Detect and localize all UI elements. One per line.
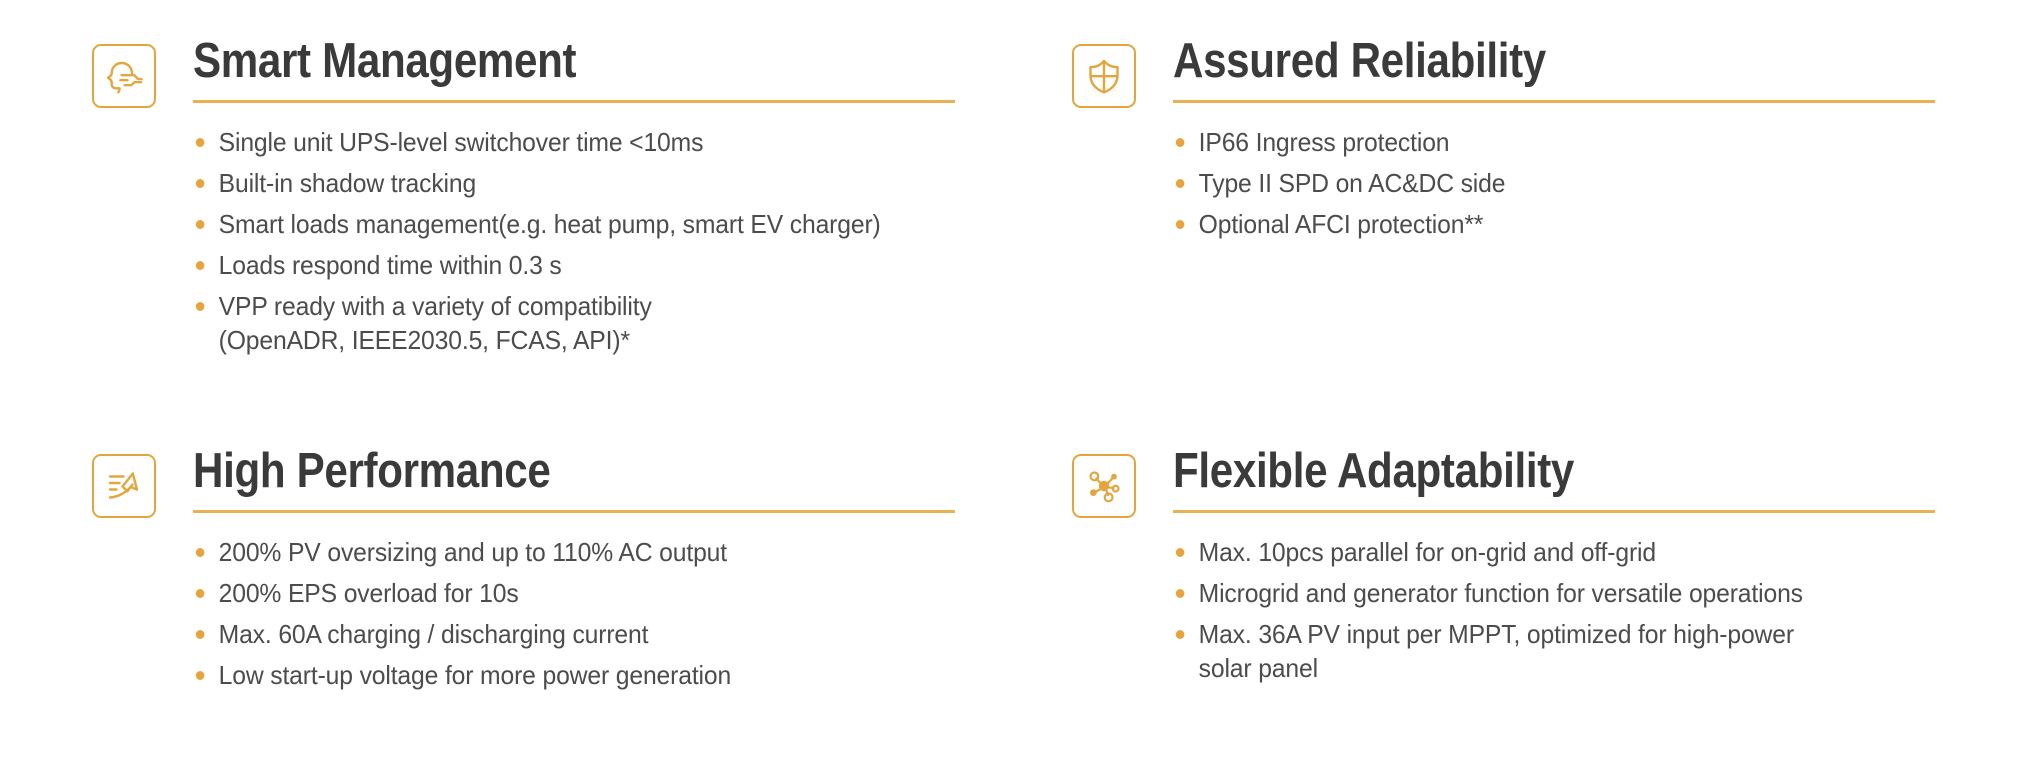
feature-block-flexible-adaptability: Flexible Adaptability Max. 10pcs paralle… <box>1072 446 1952 692</box>
list-item-text: Microgrid and generator function for ver… <box>1199 578 1803 608</box>
feature-block-smart-management: Smart Management Single unit UPS-level s… <box>92 36 972 364</box>
list-item-text: Smart loads management(e.g. heat pump, s… <box>219 209 881 239</box>
list-item: Microgrid and generator function for ver… <box>1173 576 1913 610</box>
list-item-text: Loads respond time within 0.3 s <box>219 250 562 280</box>
shield-icon <box>1072 44 1136 108</box>
list-item-text: Low start-up voltage for more power gene… <box>219 660 731 690</box>
list-item: Low start-up voltage for more power gene… <box>193 658 933 692</box>
bullet-list-high-performance: 200% PV oversizing and up to 110% AC out… <box>193 535 972 692</box>
network-nodes-icon <box>1072 454 1136 518</box>
title-divider <box>1173 510 1935 513</box>
bullet-list-smart-management: Single unit UPS-level switchover time <1… <box>193 125 972 357</box>
feature-block-high-performance: High Performance 200% PV oversizing and … <box>92 446 972 699</box>
list-item: VPP ready with a variety of compatibilit… <box>193 289 933 357</box>
list-item-continuation: solar panel <box>1199 651 1913 685</box>
bullet-list-flexible-adaptability: Max. 10pcs parallel for on-grid and off-… <box>1173 535 1952 685</box>
list-item-text: Max. 36A PV input per MPPT, optimized fo… <box>1199 619 1794 649</box>
list-item: Loads respond time within 0.3 s <box>193 248 933 282</box>
bullet-list-assured-reliability: IP66 Ingress protection Type II SPD on A… <box>1173 125 1952 241</box>
page-title-assured-reliability: Assured Reliability <box>1173 36 1843 88</box>
list-item: Optional AFCI protection** <box>1173 207 1913 241</box>
list-item-continuation: (OpenADR, IEEE2030.5, FCAS, API)* <box>219 323 933 357</box>
list-item-text: Single unit UPS-level switchover time <1… <box>219 127 704 157</box>
list-item: Max. 36A PV input per MPPT, optimized fo… <box>1173 617 1913 685</box>
list-item: Single unit UPS-level switchover time <1… <box>193 125 933 159</box>
block-body: Assured Reliability IP66 Ingress protect… <box>1173 36 1952 248</box>
page-title-flexible-adaptability: Flexible Adaptability <box>1173 446 1843 498</box>
list-item-text: Max. 60A charging / discharging current <box>219 619 649 649</box>
title-divider <box>1173 100 1935 103</box>
list-item-text: VPP ready with a variety of compatibilit… <box>219 291 652 321</box>
list-item-text: 200% PV oversizing and up to 110% AC out… <box>219 537 727 567</box>
list-item: Built-in shadow tracking <box>193 166 933 200</box>
title-divider <box>193 100 955 103</box>
smart-head-ai-icon <box>92 44 156 108</box>
list-item-text: 200% EPS overload for 10s <box>219 578 519 608</box>
list-item: 200% PV oversizing and up to 110% AC out… <box>193 535 933 569</box>
title-divider <box>193 510 955 513</box>
list-item: Max. 60A charging / discharging current <box>193 617 933 651</box>
list-item-text: Type II SPD on AC&DC side <box>1199 168 1506 198</box>
list-item: Max. 10pcs parallel for on-grid and off-… <box>1173 535 1913 569</box>
block-body: Smart Management Single unit UPS-level s… <box>193 36 972 364</box>
list-item-text: Max. 10pcs parallel for on-grid and off-… <box>1199 537 1656 567</box>
list-item: Type II SPD on AC&DC side <box>1173 166 1913 200</box>
rising-arrow-icon <box>92 454 156 518</box>
block-body: Flexible Adaptability Max. 10pcs paralle… <box>1173 446 1952 692</box>
page-title-smart-management: Smart Management <box>193 36 863 88</box>
feature-highlights-page: Smart Management Single unit UPS-level s… <box>0 0 2040 774</box>
list-item-text: IP66 Ingress protection <box>1199 127 1450 157</box>
feature-block-assured-reliability: Assured Reliability IP66 Ingress protect… <box>1072 36 1952 248</box>
list-item: 200% EPS overload for 10s <box>193 576 933 610</box>
list-item-text: Built-in shadow tracking <box>219 168 476 198</box>
list-item-text: Optional AFCI protection** <box>1199 209 1484 239</box>
block-body: High Performance 200% PV oversizing and … <box>193 446 972 699</box>
list-item: IP66 Ingress protection <box>1173 125 1913 159</box>
list-item: Smart loads management(e.g. heat pump, s… <box>193 207 933 241</box>
page-title-high-performance: High Performance <box>193 446 863 498</box>
